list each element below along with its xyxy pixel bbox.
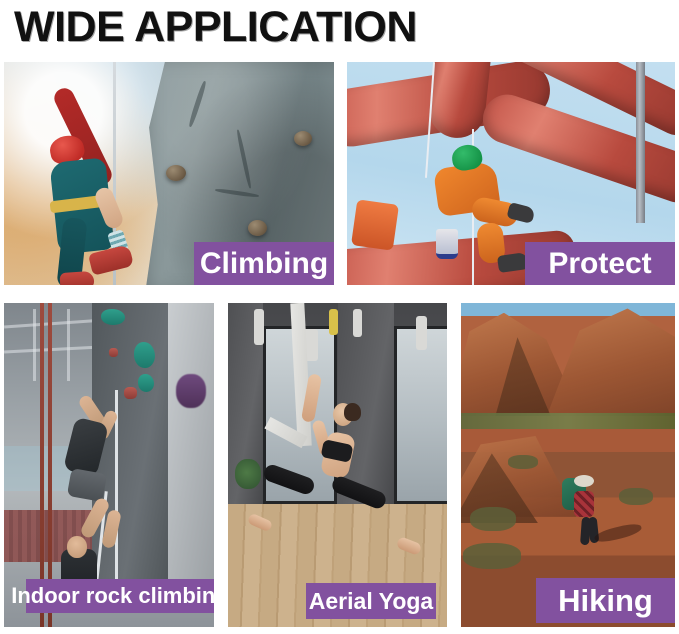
caption-aerial-yoga: Aerial Yoga (306, 583, 436, 619)
yoga-hair (344, 403, 361, 421)
caption-protect: Protect (525, 242, 675, 285)
hiker-plaid-shirt (574, 491, 594, 517)
climbing-hold-green (134, 342, 155, 368)
panel-climbing[interactable]: Climbing (4, 62, 334, 285)
hanging-strap-yellow (329, 309, 338, 335)
paint-bucket (436, 229, 458, 259)
climbing-hold-red (109, 348, 118, 357)
desert-scrub (508, 455, 538, 469)
caption-hiking: Hiking (536, 578, 675, 623)
climbing-wall-panel (168, 303, 214, 588)
ceiling-truss (67, 309, 70, 380)
studio-window (394, 326, 447, 504)
hiker-hat (574, 475, 594, 487)
caption-climbing: Climbing (194, 242, 334, 285)
desert-scrub (470, 507, 516, 531)
panel-protect[interactable]: Protect (347, 62, 675, 285)
potted-plant (235, 459, 261, 489)
photo-aerial-yoga (228, 303, 447, 627)
climbing-hold-red (124, 387, 137, 399)
hanging-strap (353, 309, 362, 337)
climbing-hold (166, 165, 186, 181)
caption-indoor-rock-climbing: Indoor rock climbing (26, 579, 214, 613)
panel-hiking[interactable]: Hiking (461, 303, 675, 627)
safety-gear-bag (351, 200, 399, 251)
hanging-strap (254, 309, 264, 345)
panel-aerial-yoga[interactable]: Aerial Yoga (228, 303, 447, 627)
hanging-strap (416, 316, 427, 350)
page-title: WIDE APPLICATION (14, 1, 417, 53)
desert-scrub (619, 488, 653, 505)
wide-application-poster: WIDE APPLICATION Climbing (0, 0, 679, 634)
belayer-head (67, 536, 87, 558)
ceiling-truss (33, 309, 36, 380)
climbing-shoe (60, 270, 95, 285)
desert-scrub (463, 543, 521, 569)
climbing-hold-purple (176, 374, 206, 408)
panel-indoor-rock-climbing[interactable]: Indoor rock climbing (4, 303, 214, 627)
steel-column (636, 62, 645, 223)
vegetation-band (461, 413, 675, 429)
